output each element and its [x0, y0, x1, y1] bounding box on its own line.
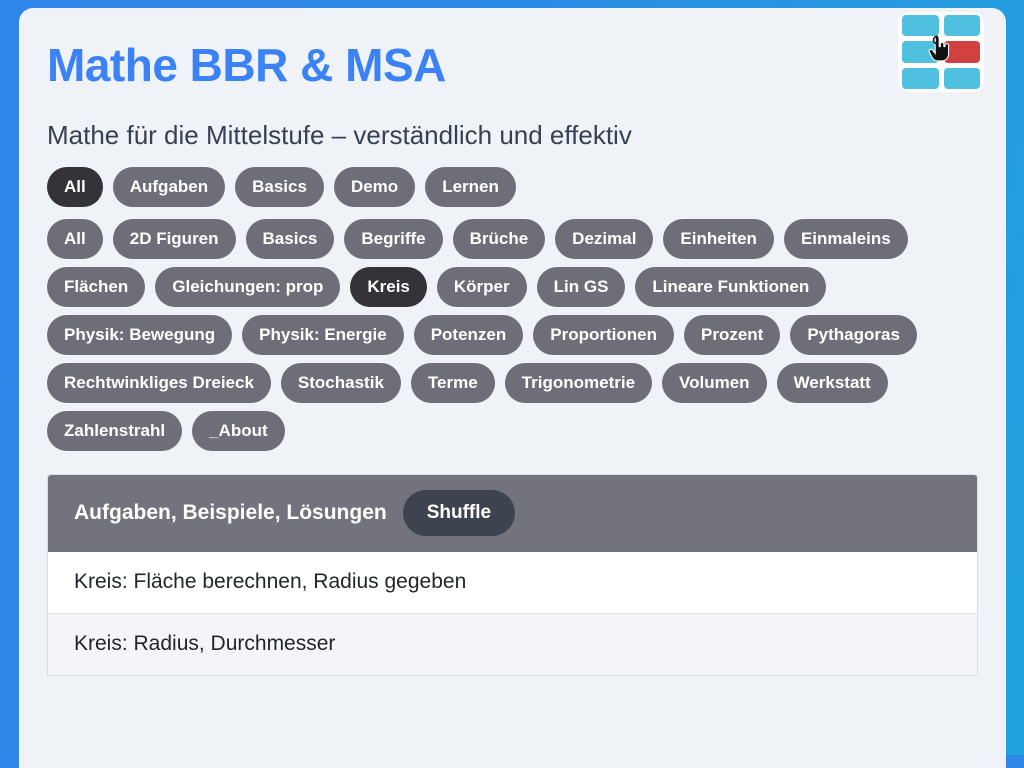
filter-tag-basics[interactable]: Basics — [235, 167, 324, 207]
topic-tag-stochastik[interactable]: Stochastik — [281, 363, 401, 403]
topic-tag-lineare-funktionen[interactable]: Lineare Funktionen — [635, 267, 826, 307]
topic-tag-terme[interactable]: Terme — [411, 363, 495, 403]
topic-tag-physik-bewegung[interactable]: Physik: Bewegung — [47, 315, 232, 355]
logo-tile-5 — [902, 68, 939, 89]
topic-tag-dezimal[interactable]: Dezimal — [555, 219, 653, 259]
topic-tag-all[interactable]: All — [47, 219, 103, 259]
topic-tag-zahlenstrahl[interactable]: Zahlenstrahl — [47, 411, 182, 451]
list-item[interactable]: Kreis: Fläche berechnen, Radius gegeben — [48, 552, 977, 614]
hand-pointer-icon — [928, 35, 950, 63]
topic-tag-lin-gs[interactable]: Lin GS — [537, 267, 626, 307]
topic-tag-potenzen[interactable]: Potenzen — [414, 315, 524, 355]
content-card: Aufgaben, Beispiele, Lösungen Shuffle Kr… — [47, 474, 978, 676]
topic-tag-physik-energie[interactable]: Physik: Energie — [242, 315, 404, 355]
logo-tile-2 — [944, 15, 981, 36]
topic-tag-koerper[interactable]: Körper — [437, 267, 527, 307]
topic-tag-einheiten[interactable]: Einheiten — [663, 219, 774, 259]
topic-tag-begriffe[interactable]: Begriffe — [344, 219, 442, 259]
filter-tag-demo[interactable]: Demo — [334, 167, 415, 207]
topic-row-4: Rechtwinkliges Dreieck Stochastik Terme … — [47, 363, 976, 403]
logo-tile-1 — [902, 15, 939, 36]
topic-tag-about[interactable]: _About — [192, 411, 285, 451]
topic-tag-2d-figuren[interactable]: 2D Figuren — [113, 219, 236, 259]
card-header: Aufgaben, Beispiele, Lösungen Shuffle — [48, 475, 977, 552]
topic-row-2: Flächen Gleichungen: prop Kreis Körper L… — [47, 267, 976, 307]
topic-tag-rechtwinkliges-dreieck[interactable]: Rechtwinkliges Dreieck — [47, 363, 271, 403]
app-content: Mathe BBR & MSA Mathe für die Mittelstuf… — [19, 8, 1006, 676]
shuffle-button[interactable]: Shuffle — [403, 490, 515, 536]
topic-tag-einmaleins[interactable]: Einmaleins — [784, 219, 908, 259]
app-header: Mathe BBR & MSA Mathe für die Mittelstuf… — [19, 8, 1006, 151]
filter-tag-area: All Aufgaben Basics Demo Lernen All 2D F… — [19, 151, 1006, 451]
topic-tag-basics[interactable]: Basics — [246, 219, 335, 259]
list-item[interactable]: Kreis: Radius, Durchmesser — [48, 614, 977, 676]
topic-tag-prozent[interactable]: Prozent — [684, 315, 780, 355]
topic-row-5: Zahlenstrahl _About — [47, 411, 976, 451]
filter-tag-lernen[interactable]: Lernen — [425, 167, 516, 207]
topic-row-3: Physik: Bewegung Physik: Energie Potenze… — [47, 315, 976, 355]
filter-row-type: All Aufgaben Basics Demo Lernen — [47, 167, 976, 207]
topic-tag-trigonometrie[interactable]: Trigonometrie — [505, 363, 652, 403]
topic-tag-pythagoras[interactable]: Pythagoras — [790, 315, 917, 355]
topic-tag-kreis[interactable]: Kreis — [350, 267, 427, 307]
topic-tag-volumen[interactable]: Volumen — [662, 363, 767, 403]
topic-tag-werkstatt[interactable]: Werkstatt — [777, 363, 888, 403]
page-background: Mathe BBR & MSA Mathe für die Mittelstuf… — [0, 0, 1024, 755]
topic-tag-proportionen[interactable]: Proportionen — [533, 315, 674, 355]
topic-tag-gleichungen-prop[interactable]: Gleichungen: prop — [155, 267, 340, 307]
topic-tag-brueche[interactable]: Brüche — [453, 219, 546, 259]
card-header-title: Aufgaben, Beispiele, Lösungen — [74, 501, 387, 525]
logo-tile-6 — [944, 68, 981, 89]
page-subtitle: Mathe für die Mittelstufe – verständlich… — [47, 119, 972, 151]
app-logo[interactable] — [898, 12, 984, 92]
filter-tag-aufgaben[interactable]: Aufgaben — [113, 167, 225, 207]
filter-tag-all[interactable]: All — [47, 167, 103, 207]
topic-row-1: All 2D Figuren Basics Begriffe Brüche De… — [47, 219, 976, 259]
page-title: Mathe BBR & MSA — [47, 38, 972, 92]
app-panel: Mathe BBR & MSA Mathe für die Mittelstuf… — [19, 8, 1006, 768]
topic-tag-flaechen[interactable]: Flächen — [47, 267, 145, 307]
